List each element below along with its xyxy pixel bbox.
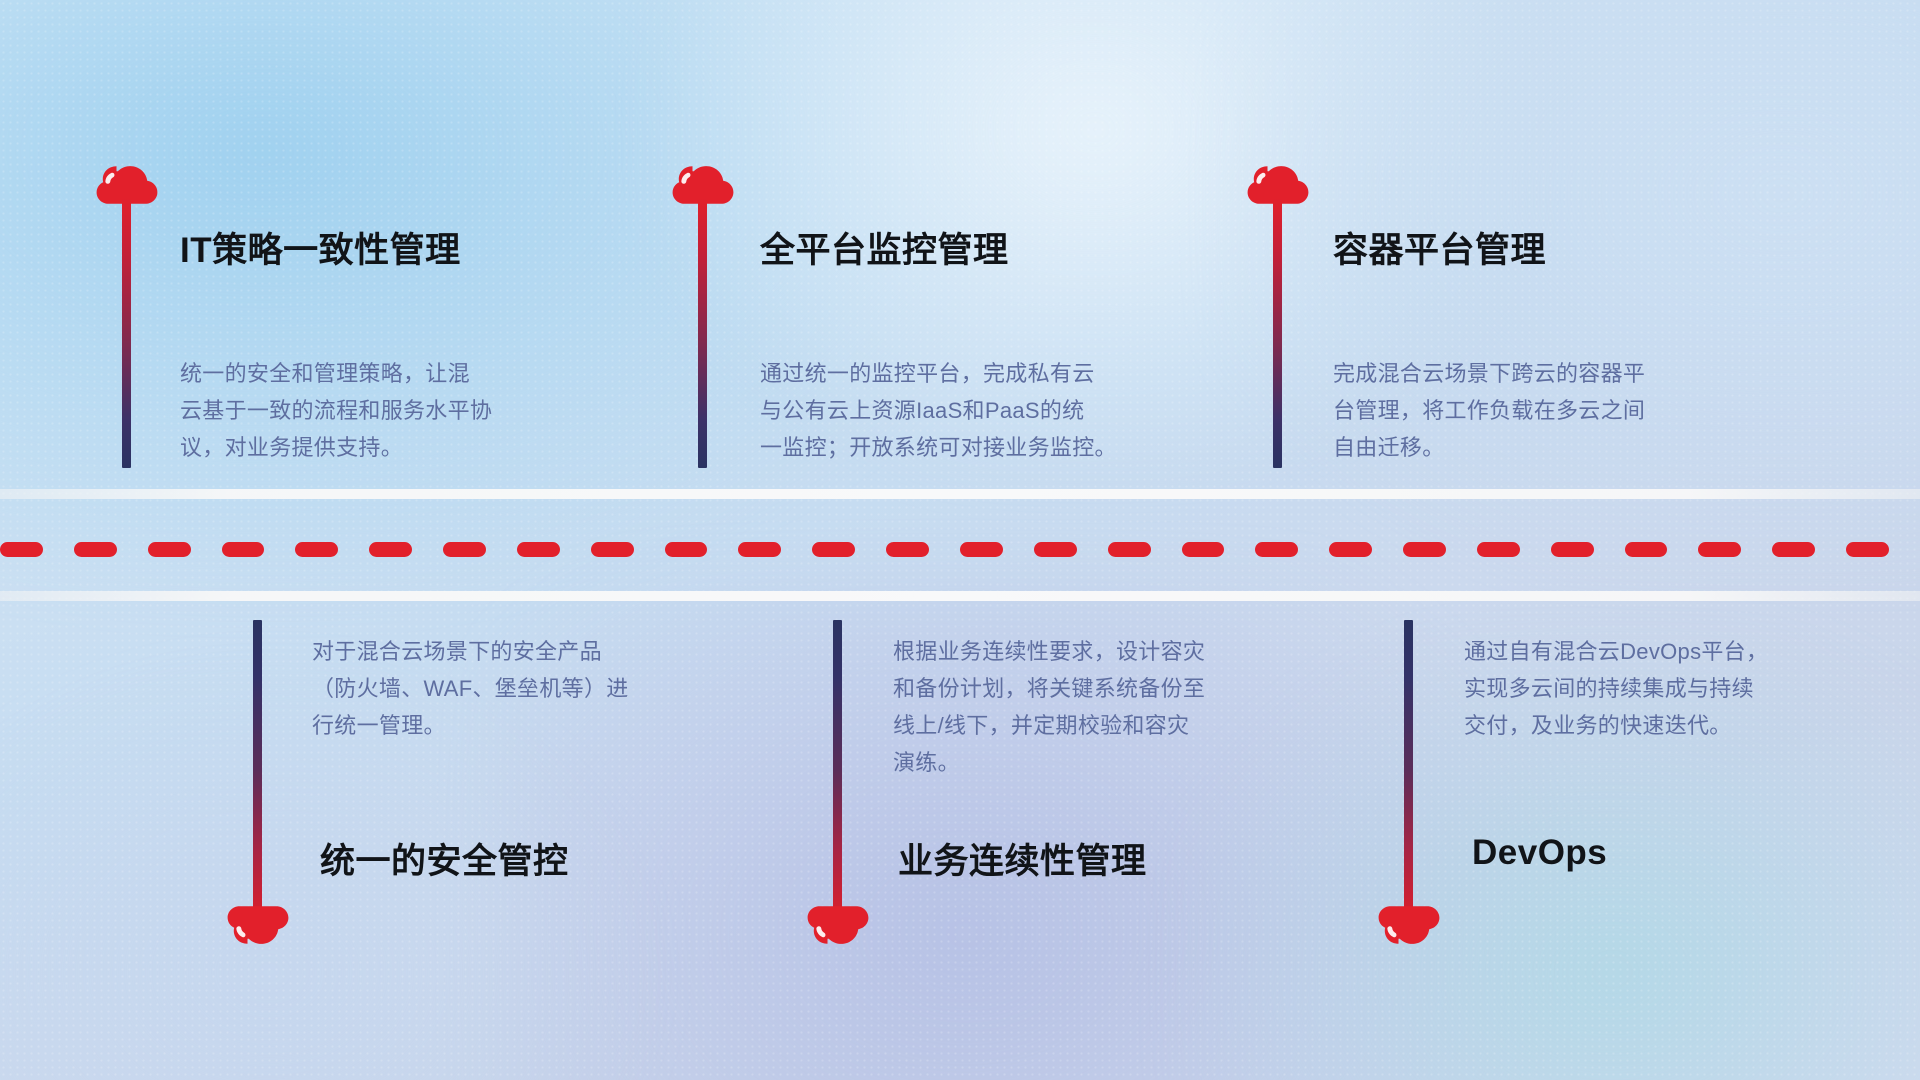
axis-dash-segment: [1477, 542, 1520, 557]
axis-dash-segment: [1698, 542, 1741, 557]
milestone-title: 全平台监控管理: [760, 222, 1009, 273]
axis-dash-segment: [1255, 542, 1298, 557]
axis-dash-segment: [1403, 542, 1446, 557]
description-line: 完成混合云场景下跨云的容器平: [1333, 355, 1645, 392]
axis-dash-segment: [960, 542, 1003, 557]
milestone-description: 完成混合云场景下跨云的容器平 台管理，将工作负载在多云之间 自由迁移。: [1333, 355, 1645, 466]
axis-dash-segment: [74, 542, 117, 557]
axis-dash-segment: [665, 542, 708, 557]
description-line: 通过统一的监控平台，完成私有云: [760, 355, 1117, 392]
description-line: 和备份计划，将关键系统备份至: [893, 670, 1205, 707]
description-line: 一监控；开放系统可对接业务监控。: [760, 429, 1117, 466]
axis-dash-segment: [591, 542, 634, 557]
cloud-pin-icon: [807, 900, 869, 948]
axis-dash-segment: [1625, 542, 1668, 557]
description-line: （防火墙、WAF、堡垒机等）进: [312, 670, 629, 707]
milestone-title: DevOps: [1472, 833, 1607, 873]
description-line: 根据业务连续性要求，设计容灾: [893, 633, 1205, 670]
description-line: 自由迁移。: [1333, 429, 1645, 466]
axis-dash-segment: [295, 542, 338, 557]
axis-dash-segment: [1108, 542, 1151, 557]
description-line: 行统一管理。: [312, 707, 629, 744]
cloud-pin-icon: [1378, 900, 1440, 948]
milestone-description: 通过统一的监控平台，完成私有云 与公有云上资源IaaS和PaaS的统 一监控；开…: [760, 355, 1117, 466]
milestone-description: 统一的安全和管理策略，让混 云基于一致的流程和服务水平协 议，对业务提供支持。: [180, 355, 492, 466]
milestone-title: 统一的安全管控: [320, 833, 569, 884]
description-line: 通过自有混合云DevOps平台，: [1464, 633, 1768, 670]
axis-dash-segment: [517, 542, 560, 557]
milestone-description: 根据业务连续性要求，设计容灾 和备份计划，将关键系统备份至 线上/线下，并定期校…: [893, 633, 1205, 781]
timeline-stem: [698, 198, 707, 468]
description-line: 与公有云上资源IaaS和PaaS的统: [760, 392, 1117, 429]
axis-dash-segment: [1034, 542, 1077, 557]
axis-dashed-line: [0, 542, 1920, 557]
axis-dash-segment: [738, 542, 781, 557]
axis-dash-segment: [1846, 542, 1889, 557]
description-line: 实现多云间的持续集成与持续: [1464, 670, 1768, 707]
milestone-title: 业务连续性管理: [898, 833, 1147, 884]
axis-dash-segment: [369, 542, 412, 557]
milestone-title: IT策略一致性管理: [180, 222, 461, 273]
infographic-canvas: IT策略一致性管理 统一的安全和管理策略，让混 云基于一致的流程和服务水平协 议…: [0, 0, 1920, 1080]
axis-dash-segment: [0, 542, 43, 557]
description-line: 交付，及业务的快速迭代。: [1464, 707, 1768, 744]
axis-dash-segment: [148, 542, 191, 557]
axis-dash-segment: [1772, 542, 1815, 557]
description-line: 对于混合云场景下的安全产品: [312, 633, 629, 670]
axis-dash-segment: [1182, 542, 1225, 557]
milestone-title: 容器平台管理: [1333, 222, 1546, 273]
timeline-stem: [1404, 620, 1413, 910]
axis-dash-segment: [812, 542, 855, 557]
axis-dash-segment: [1329, 542, 1372, 557]
description-line: 演练。: [893, 744, 1205, 781]
description-line: 统一的安全和管理策略，让混: [180, 355, 492, 392]
cloud-pin-icon: [227, 900, 289, 948]
axis-dash-segment: [886, 542, 929, 557]
milestone-description: 对于混合云场景下的安全产品 （防火墙、WAF、堡垒机等）进 行统一管理。: [312, 633, 629, 744]
axis-bar-upper: [0, 489, 1920, 499]
description-line: 线上/线下，并定期校验和容灾: [893, 707, 1205, 744]
milestone-description: 通过自有混合云DevOps平台， 实现多云间的持续集成与持续 交付，及业务的快速…: [1464, 633, 1768, 744]
axis-dash-segment: [222, 542, 265, 557]
axis-bar-lower: [0, 591, 1920, 601]
timeline-stem: [1273, 198, 1282, 468]
description-line: 台管理，将工作负载在多云之间: [1333, 392, 1645, 429]
timeline-stem: [253, 620, 262, 910]
axis-dash-segment: [443, 542, 486, 557]
description-line: 云基于一致的流程和服务水平协: [180, 392, 492, 429]
axis-dash-segment: [1551, 542, 1594, 557]
timeline-stem: [833, 620, 842, 910]
description-line: 议，对业务提供支持。: [180, 429, 492, 466]
timeline-stem: [122, 198, 131, 468]
